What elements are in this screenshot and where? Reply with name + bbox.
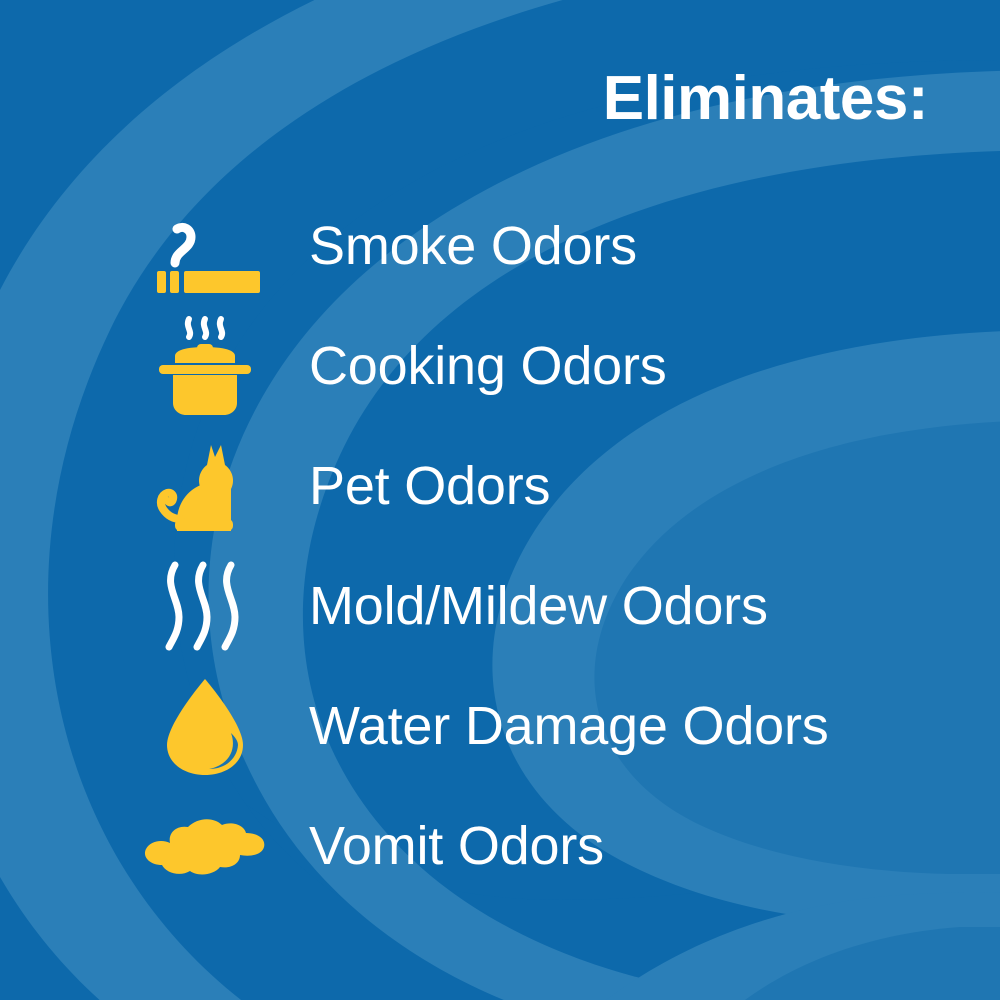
list-item: Water Damage Odors <box>0 666 1000 786</box>
list-item: Mold/Mildew Odors <box>0 546 1000 666</box>
vomit-puddle-icon <box>140 786 270 906</box>
list-item-label: Water Damage Odors <box>309 666 829 786</box>
list-item: Vomit Odors <box>0 786 1000 906</box>
list-item: Smoke Odors <box>0 186 1000 306</box>
list-item-label: Cooking Odors <box>309 306 667 426</box>
page-title: Eliminates: <box>0 68 928 130</box>
list-item-label: Smoke Odors <box>309 186 637 306</box>
cooking-pot-icon <box>140 306 270 426</box>
odor-list: Smoke Odors <box>0 186 1000 906</box>
cigarette-smoke-icon <box>140 186 270 306</box>
vapor-waves-icon <box>140 546 270 666</box>
eliminates-odors-poster: Eliminates: Smoke Odors <box>0 0 1000 1000</box>
list-item-label: Mold/Mildew Odors <box>309 546 768 666</box>
list-item: Cooking Odors <box>0 306 1000 426</box>
list-item-label: Pet Odors <box>309 426 550 546</box>
list-item: Pet Odors <box>0 426 1000 546</box>
poster-content: Eliminates: Smoke Odors <box>0 0 1000 1000</box>
list-item-label: Vomit Odors <box>309 786 604 906</box>
water-droplet-icon <box>140 666 270 786</box>
cat-icon <box>140 426 270 546</box>
